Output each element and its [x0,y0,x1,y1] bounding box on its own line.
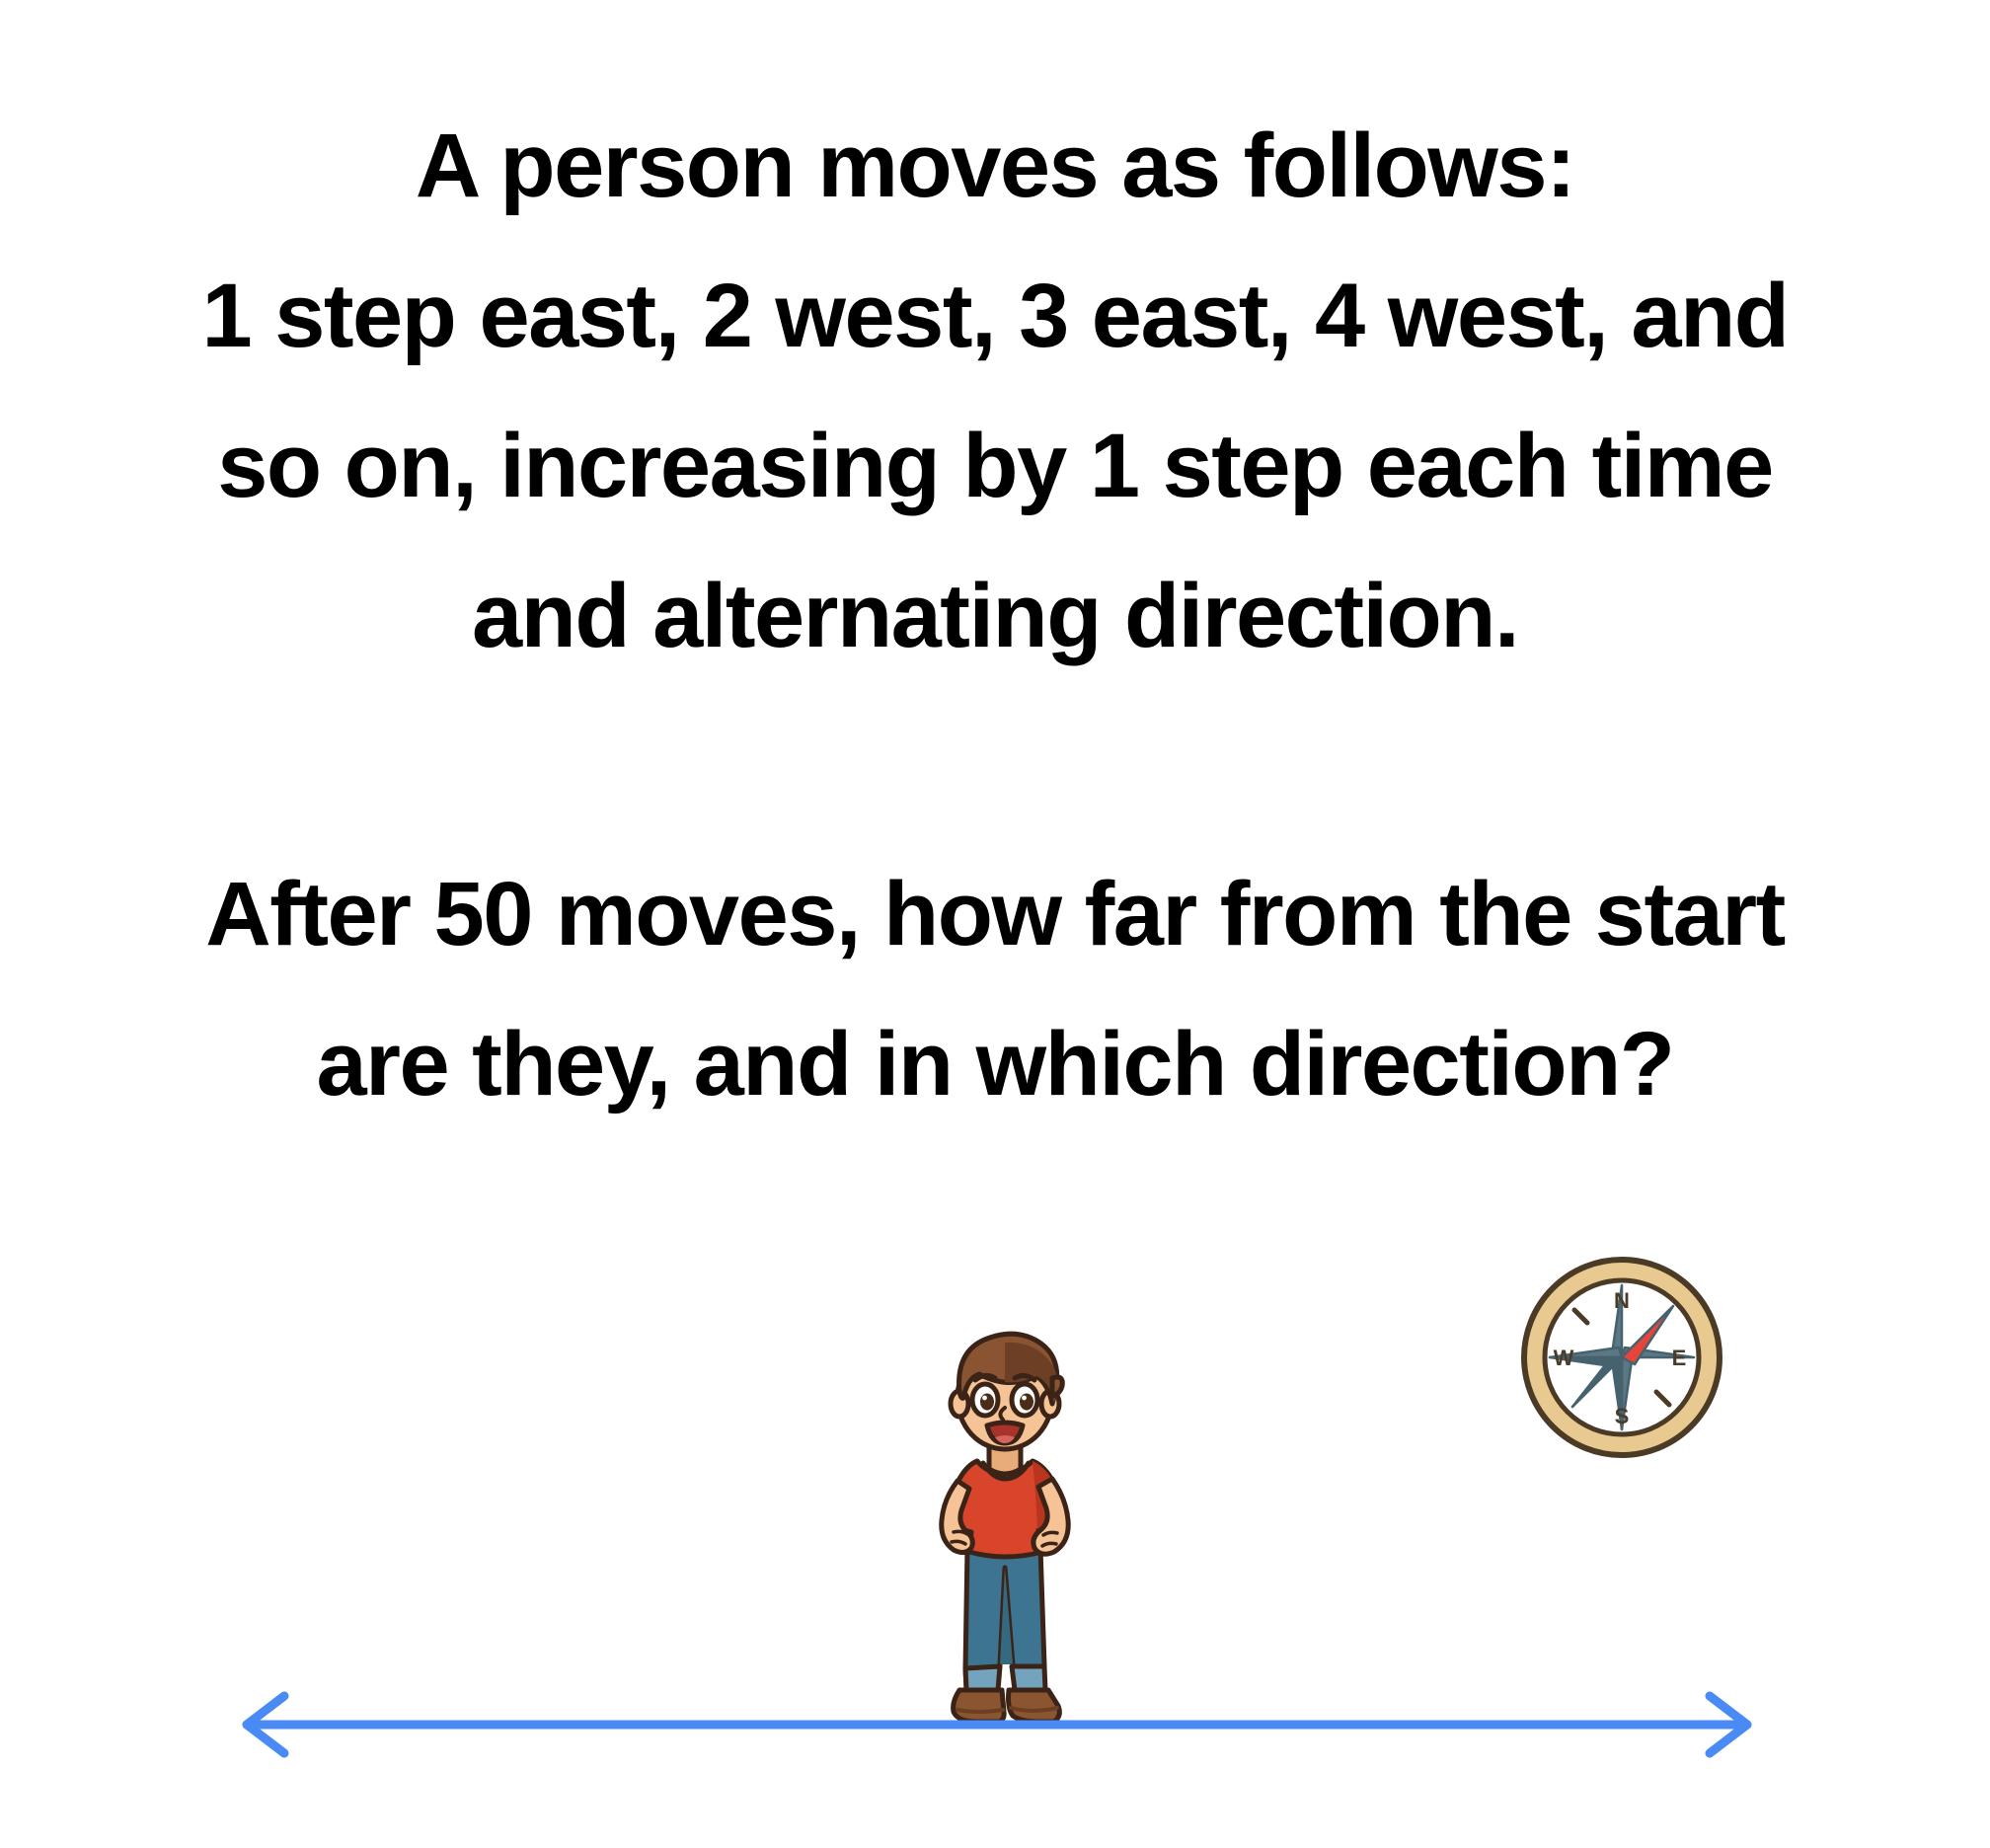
cartoon-boy-figure [906,1321,1104,1728]
question-line-4: and alternating direction. [0,541,1990,691]
question-line-6: are they, and in which direction? [0,989,1990,1139]
paragraph-spacer [0,691,1990,839]
question-line-3: so on, increasing by 1 step each time [0,391,1990,541]
compass-label-west: W [1554,1346,1574,1370]
compass-label-south: S [1615,1404,1630,1428]
pupil-left [980,1394,994,1411]
question-text-block: A person moves as follows: 1 step east, … [0,91,1990,1139]
compass-label-east: E [1672,1346,1687,1370]
slide-canvas: A person moves as follows: 1 step east, … [0,0,1990,1848]
question-line-1: A person moves as follows: [0,91,1990,241]
compass-label-north: N [1614,1288,1630,1313]
compass-rose-icon: N E S W [1518,1254,1725,1461]
number-line-arrow [227,1688,1767,1767]
jeans-cuff-left [965,1666,1000,1690]
hair-tuft [1052,1377,1062,1396]
pupil-right [1020,1394,1033,1411]
jeans-cuff-right [1012,1666,1045,1690]
question-line-2: 1 step east, 2 west, 3 east, 4 west, and [0,241,1990,391]
question-line-5: After 50 moves, how far from the start [0,839,1990,989]
